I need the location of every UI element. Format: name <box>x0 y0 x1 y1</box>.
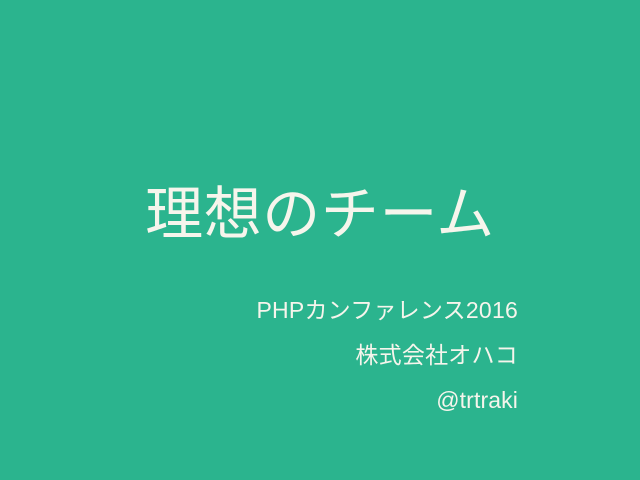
title-block: 理想のチーム <box>0 181 640 249</box>
title-slide: 理想のチーム PHPカンファレンス2016 株式会社オハコ @trtraki <box>0 0 640 480</box>
subtitle-line-handle: @trtraki <box>0 378 518 423</box>
subtitle-line-event: PHPカンファレンス2016 <box>0 288 518 333</box>
subtitle-line-company: 株式会社オハコ <box>0 333 518 378</box>
subtitle-block: PHPカンファレンス2016 株式会社オハコ @trtraki <box>0 288 518 423</box>
slide-title: 理想のチーム <box>0 181 640 249</box>
